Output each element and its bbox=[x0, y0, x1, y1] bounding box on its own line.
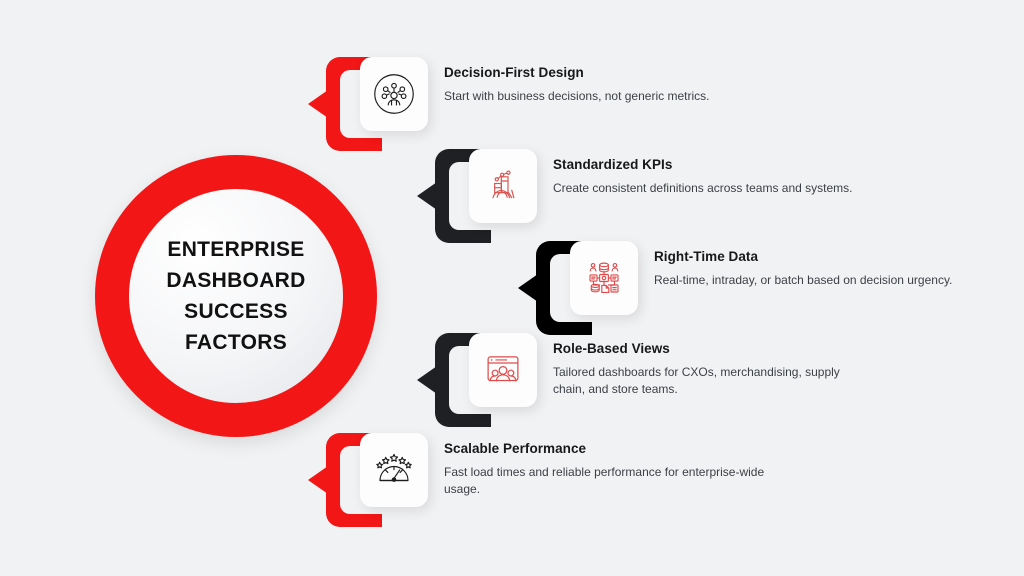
icon-card-scalable-performance bbox=[360, 433, 428, 507]
bracket-arrow-icon bbox=[417, 182, 437, 210]
factor-description: Fast load times and reliable performance… bbox=[444, 464, 774, 498]
factor-description: Start with business decisions, not gener… bbox=[444, 88, 709, 105]
text-block-role-based-views: Role-Based Views Tailored dashboards for… bbox=[553, 333, 873, 398]
factor-title: Right-Time Data bbox=[654, 249, 952, 264]
factor-item-standardized-kpis[interactable]: Standardized KPIs Create consistent defi… bbox=[417, 149, 852, 243]
text-block-standardized-kpis: Standardized KPIs Create consistent defi… bbox=[553, 149, 852, 197]
factor-title: Standardized KPIs bbox=[553, 157, 852, 172]
factor-item-decision-first-design[interactable]: Decision-First Design Start with busines… bbox=[308, 57, 709, 151]
factor-description: Real-time, intraday, or batch based on d… bbox=[654, 272, 952, 289]
factor-description: Create consistent definitions across tea… bbox=[553, 180, 852, 197]
infographic-canvas: ENTERPRISE DASHBOARD SUCCESS FACTORS bbox=[0, 0, 1024, 576]
hub-title-line-4: FACTORS bbox=[166, 327, 305, 358]
bracket-arrow-icon bbox=[308, 466, 328, 494]
speedometer-stars-icon bbox=[373, 449, 415, 491]
text-block-right-time-data: Right-Time Data Real-time, intraday, or … bbox=[654, 241, 952, 289]
hub-title-line-1: ENTERPRISE bbox=[166, 234, 305, 265]
browser-users-icon bbox=[482, 349, 524, 391]
hub-inner-circle: ENTERPRISE DASHBOARD SUCCESS FACTORS bbox=[129, 189, 343, 403]
icon-card-right-time-data bbox=[570, 241, 638, 315]
text-block-decision-first-design: Decision-First Design Start with busines… bbox=[444, 57, 709, 105]
factor-item-role-based-views[interactable]: Role-Based Views Tailored dashboards for… bbox=[417, 333, 873, 427]
bracket-arrow-icon bbox=[518, 274, 538, 302]
icon-card-standardized-kpis bbox=[469, 149, 537, 223]
factor-title: Scalable Performance bbox=[444, 441, 774, 456]
bracket-arrow-icon bbox=[417, 366, 437, 394]
hub-title-line-2: DASHBOARD bbox=[166, 265, 305, 296]
hub-title-line-3: SUCCESS bbox=[166, 296, 305, 327]
factor-title: Decision-First Design bbox=[444, 65, 709, 80]
central-hub: ENTERPRISE DASHBOARD SUCCESS FACTORS bbox=[95, 155, 377, 437]
factor-title: Role-Based Views bbox=[553, 341, 873, 356]
factor-description: Tailored dashboards for CXOs, merchandis… bbox=[553, 364, 873, 398]
factor-item-scalable-performance[interactable]: Scalable Performance Fast load times and… bbox=[308, 433, 774, 527]
data-network-icon bbox=[583, 257, 625, 299]
bar-chart-growth-icon bbox=[483, 166, 523, 206]
factor-item-right-time-data[interactable]: Right-Time Data Real-time, intraday, or … bbox=[518, 241, 952, 335]
text-block-scalable-performance: Scalable Performance Fast load times and… bbox=[444, 433, 774, 498]
icon-card-role-based-views bbox=[469, 333, 537, 407]
person-network-icon bbox=[373, 73, 415, 115]
icon-card-decision-first-design bbox=[360, 57, 428, 131]
hub-title: ENTERPRISE DASHBOARD SUCCESS FACTORS bbox=[160, 234, 311, 358]
bracket-arrow-icon bbox=[308, 90, 328, 118]
